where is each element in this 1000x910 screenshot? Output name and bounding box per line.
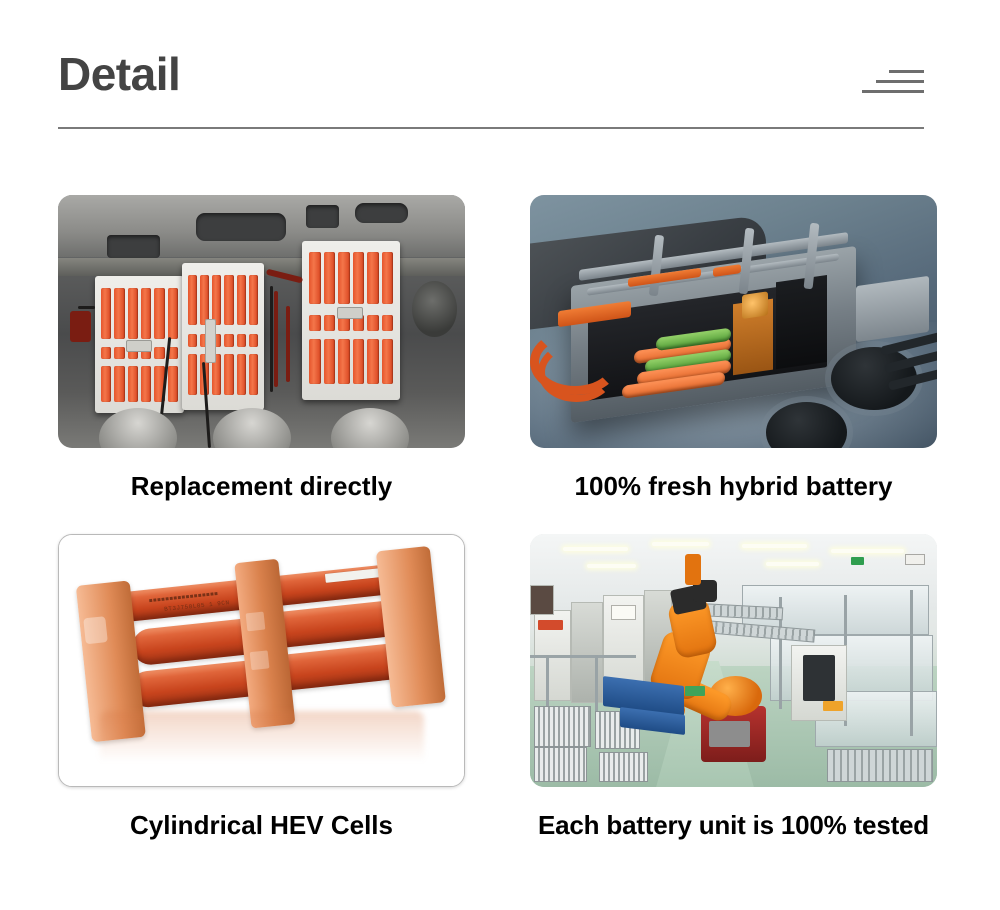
detail-caption-battery-unit-tested: Each battery unit is 100% tested	[530, 787, 937, 841]
menu-line-3	[862, 90, 924, 93]
factory-production-line-illustration	[530, 534, 937, 787]
battery-bay-illustration	[58, 195, 465, 448]
header-divider	[58, 127, 924, 129]
detail-card-battery-unit-tested[interactable]: Each battery unit is 100% tested	[530, 534, 937, 841]
detail-card-cylindrical-hev-cells[interactable]: ■■■■■■■■■■■■■■■■■ BT3J750L05 1 9CN Cylin…	[58, 534, 465, 841]
hev-cell-module-illustration: ■■■■■■■■■■■■■■■■■ BT3J750L05 1 9CN	[59, 535, 464, 786]
detail-caption-fresh-hybrid-battery: 100% fresh hybrid battery	[530, 448, 937, 502]
detail-image-battery-unit-tested[interactable]	[530, 534, 937, 787]
page-header: Detail	[58, 46, 924, 130]
page-title: Detail	[58, 46, 180, 102]
detail-card-replacement-directly[interactable]: Replacement directly	[58, 195, 465, 502]
detail-image-grid: Replacement directly	[58, 195, 937, 841]
detail-image-replacement-directly[interactable]	[58, 195, 465, 448]
detail-image-cylindrical-hev-cells[interactable]: ■■■■■■■■■■■■■■■■■ BT3J750L05 1 9CN	[58, 534, 465, 787]
hybrid-battery-cutaway-illustration	[530, 195, 937, 448]
detail-card-fresh-hybrid-battery[interactable]: 100% fresh hybrid battery	[530, 195, 937, 502]
detail-image-fresh-hybrid-battery[interactable]	[530, 195, 937, 448]
menu-line-2	[876, 80, 924, 83]
stacked-lines-menu-icon[interactable]	[862, 62, 924, 106]
menu-line-1	[889, 70, 924, 73]
detail-caption-cylindrical-hev-cells: Cylindrical HEV Cells	[58, 787, 465, 841]
detail-caption-replacement-directly: Replacement directly	[58, 448, 465, 502]
